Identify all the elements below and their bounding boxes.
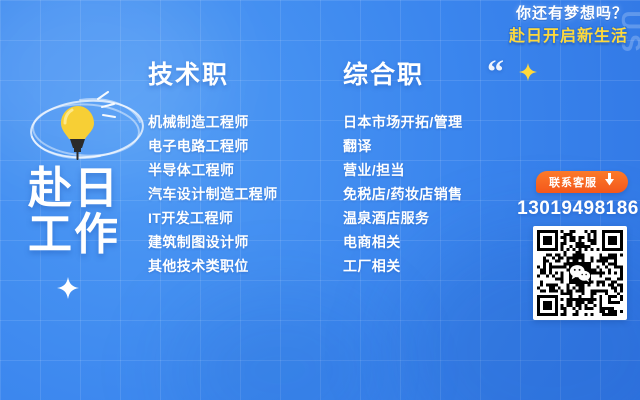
- headline: 你还有梦想吗？ 赴日开启新生活: [509, 4, 628, 48]
- list-item[interactable]: 工厂相关: [343, 254, 463, 278]
- background-glow: [170, 290, 390, 400]
- column-title-tech: 技术职: [148, 60, 278, 90]
- list-item[interactable]: 电商相关: [343, 230, 463, 254]
- wechat-qr-code[interactable]: [533, 226, 627, 320]
- job-list-general: 日本市场开拓/管理 翻译 营业/担当 免税店/药妆店销售 温泉酒店服务 电商相关…: [343, 110, 463, 278]
- brand-line-2: 工作: [28, 212, 120, 258]
- list-item[interactable]: 温泉酒店服务: [343, 206, 463, 230]
- promo-poster: JOIN US 你还有梦想吗？ 赴日开启新生活 “: [0, 0, 640, 400]
- brand-line-1: 赴日: [28, 166, 120, 212]
- list-item[interactable]: 建筑制图设计师: [148, 230, 278, 254]
- list-item[interactable]: 免税店/药妆店销售: [343, 182, 463, 206]
- list-item[interactable]: 翻译: [343, 134, 463, 158]
- list-item[interactable]: 日本市场开拓/管理: [343, 110, 463, 134]
- brand-title: 赴日 工作: [28, 166, 120, 258]
- sparkle-star-icon: [57, 277, 79, 299]
- job-column-tech: 技术职 机械制造工程师 电子电路工程师 半导体工程师 汽车设计制造工程师 IT开…: [148, 60, 278, 278]
- contact-support-button[interactable]: 联系客服: [536, 171, 628, 193]
- column-title-general: 综合职: [343, 60, 463, 90]
- headline-line-2: 赴日开启新生活: [509, 26, 628, 48]
- job-column-general: 综合职 日本市场开拓/管理 翻译 营业/担当 免税店/药妆店销售 温泉酒店服务 …: [343, 60, 463, 278]
- contact-support-label: 联系客服: [549, 174, 597, 190]
- quotation-mark-icon: “: [487, 56, 504, 90]
- list-item[interactable]: 营业/担当: [343, 158, 463, 182]
- list-item[interactable]: 其他技术类职位: [148, 254, 278, 278]
- lightbulb-icon: [22, 82, 152, 174]
- phone-number[interactable]: 13019498186: [516, 198, 640, 220]
- headline-line-1: 你还有梦想吗？: [509, 4, 628, 24]
- sparkle-star-icon: [519, 63, 537, 81]
- arrow-down-icon: [604, 173, 615, 191]
- list-item[interactable]: 机械制造工程师: [148, 110, 278, 134]
- job-list-tech: 机械制造工程师 电子电路工程师 半导体工程师 汽车设计制造工程师 IT开发工程师…: [148, 110, 278, 278]
- list-item[interactable]: 汽车设计制造工程师: [148, 182, 278, 206]
- list-item[interactable]: IT开发工程师: [148, 206, 278, 230]
- list-item[interactable]: 半导体工程师: [148, 158, 278, 182]
- wechat-icon: [569, 262, 591, 284]
- list-item[interactable]: 电子电路工程师: [148, 134, 278, 158]
